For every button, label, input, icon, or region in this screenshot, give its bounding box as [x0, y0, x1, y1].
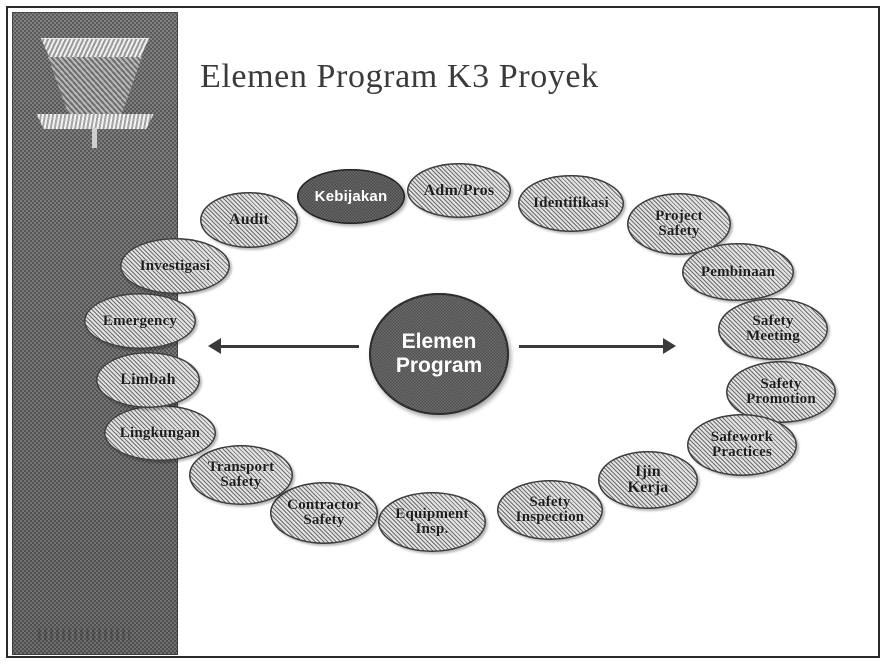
node-label-line: Insp. — [391, 522, 473, 537]
center-node: Elemen Program — [369, 293, 509, 415]
node-label-line: Safety — [742, 377, 820, 392]
node-label-line: Safety — [651, 224, 707, 239]
right-arrow-head — [663, 338, 676, 354]
diagram-node-kebijakan[interactable]: Kebijakan — [297, 169, 405, 224]
diagram-node-identifikasi[interactable]: Identifikasi — [518, 175, 624, 232]
node-label-line: Pembinaan — [697, 265, 779, 280]
left-arrow-head — [208, 338, 221, 354]
diagram-node-emergency[interactable]: Emergency — [84, 293, 196, 349]
node-label-line: Transport — [204, 460, 279, 475]
radial-element-diagram: AuditKebijakanAdm/ProsIdentifikasiProjec… — [0, 0, 894, 672]
node-label-line: Safety — [742, 314, 804, 329]
node-label-line: Investigasi — [136, 259, 215, 274]
node-label-line: Ijin — [624, 464, 673, 480]
node-label-line: Adm/Pros — [420, 183, 499, 199]
node-label-line: Limbah — [116, 372, 179, 388]
diagram-node-safety-meeting[interactable]: SafetyMeeting — [718, 298, 828, 360]
diagram-node-transport-safety[interactable]: TransportSafety — [189, 445, 293, 505]
node-label-line: Practices — [707, 445, 777, 460]
node-label-line: Identifikasi — [529, 196, 613, 211]
center-label-line-1: Elemen — [402, 330, 477, 353]
slide-canvas: Elemen Program K3 Proyek AuditKebijakanA… — [0, 0, 894, 672]
diagram-node-lingkungan[interactable]: Lingkungan — [104, 405, 216, 461]
left-arrow-line — [219, 345, 359, 348]
node-label-line: Kebijakan — [311, 189, 392, 204]
node-label-line: Safety — [204, 475, 279, 490]
diagram-node-pembinaan[interactable]: Pembinaan — [682, 243, 794, 301]
diagram-node-contractor-safety[interactable]: ContractorSafety — [270, 482, 378, 544]
diagram-node-adm-pros[interactable]: Adm/Pros — [407, 163, 511, 218]
right-arrow-line — [519, 345, 665, 348]
diagram-node-equipment-insp[interactable]: EquipmentInsp. — [378, 492, 486, 552]
diagram-node-safework-practices[interactable]: SafeworkPractices — [687, 414, 797, 476]
node-label-line: Project — [651, 209, 707, 224]
node-label-line: Equipment — [391, 507, 473, 522]
node-label-line: Meeting — [742, 329, 804, 344]
node-label-line: Lingkungan — [116, 426, 204, 441]
diagram-node-safety-inspection[interactable]: SafetyInspection — [497, 480, 603, 540]
node-label-line: Audit — [225, 212, 273, 228]
node-label-line: Inspection — [512, 510, 589, 525]
diagram-node-investigasi[interactable]: Investigasi — [120, 238, 230, 294]
node-label-line: Kerja — [624, 480, 673, 496]
node-label-line: Promotion — [742, 392, 820, 407]
node-label-line: Contractor — [283, 498, 365, 513]
node-label-line: Safety — [283, 513, 365, 528]
diagram-node-audit[interactable]: Audit — [200, 192, 298, 248]
diagram-node-ijin-kerja[interactable]: IjinKerja — [598, 451, 698, 509]
node-label-line: Emergency — [99, 314, 181, 329]
center-label-line-2: Program — [396, 354, 482, 377]
node-label-line: Safework — [707, 430, 777, 445]
diagram-node-limbah[interactable]: Limbah — [96, 352, 200, 408]
node-label-line: Safety — [512, 495, 589, 510]
